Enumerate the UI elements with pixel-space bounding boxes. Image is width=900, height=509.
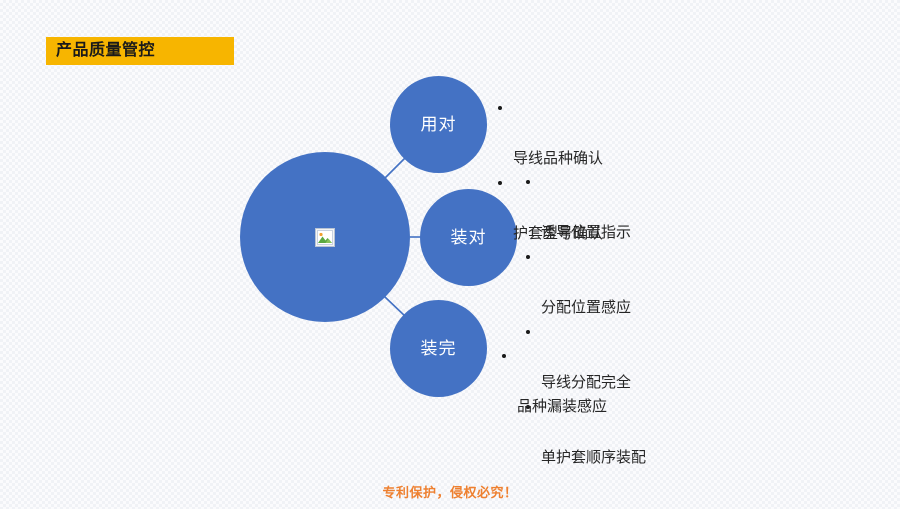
branch-node-yongdui[interactable]: 用对 <box>390 76 487 173</box>
list-item: 分配位置感应 <box>524 245 674 320</box>
slide-canvas: 产品质量管控 用对 装对 装 <box>0 0 900 509</box>
branch-node-label: 用对 <box>421 116 457 133</box>
branch-node-label: 装对 <box>451 229 487 246</box>
bullet-dot-icon <box>526 180 530 184</box>
bullet-dot-icon <box>498 106 502 110</box>
list-item-text: 诱导位置指示 <box>541 224 631 241</box>
list-item-text: 导线品种确认 <box>513 150 603 167</box>
bullet-dot-icon <box>502 354 506 358</box>
footer: 专利保护，侵权必究！ <box>0 482 900 502</box>
branch-node-zhuangwan[interactable]: 装完 <box>390 300 487 397</box>
connector-center-to-yongdui <box>385 158 405 178</box>
copyright-notice: 专利保护，侵权必究！ <box>382 485 517 500</box>
list-item-text: 品种漏装感应 <box>517 398 607 415</box>
list-item-text: 单护套顺序装配 <box>541 449 646 466</box>
mindmap-diagram: 用对 装对 装完 导线品种确认 护套型号确认 诱导位置指示 <box>0 0 900 509</box>
list-item: 品种漏装感应 <box>500 344 607 419</box>
center-node[interactable] <box>240 152 410 322</box>
image-placeholder-icon <box>315 228 335 247</box>
bullet-list-zhuangdui: 诱导位置指示 分配位置感应 导线分配完全 单护套顺序装配 <box>524 170 674 470</box>
list-item: 导线品种确认 <box>496 96 603 171</box>
bullet-dot-icon <box>526 255 530 259</box>
branch-node-label: 装完 <box>421 340 457 357</box>
list-item: 诱导位置指示 <box>524 170 674 245</box>
bullet-list-zhuangwan: 品种漏装感应 <box>500 344 607 419</box>
bullet-dot-icon <box>498 181 502 185</box>
list-item-text: 分配位置感应 <box>541 299 631 316</box>
bullet-dot-icon <box>526 330 530 334</box>
